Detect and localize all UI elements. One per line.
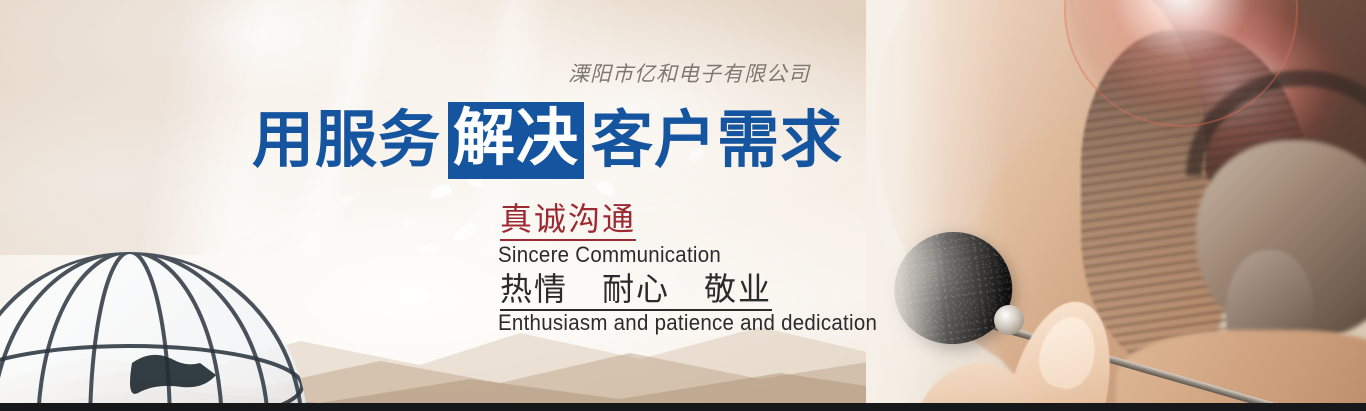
wireframe-globe-icon [0, 245, 390, 411]
slogan-secondary-zh: 热情 耐心 敬业 [500, 273, 772, 311]
call-center-agent-photo [866, 0, 1366, 403]
photo-left-fade [866, 0, 1366, 403]
bottom-strip [0, 403, 1366, 411]
slogan-primary-zh: 真诚沟通 [500, 203, 636, 241]
headline-highlight: 解决 [448, 102, 584, 179]
slogan-secondary-en: Enthusiasm and patience and dedication [498, 310, 877, 336]
slogan-primary-en: Sincere Communication [498, 242, 721, 268]
promo-banner: 溧阳市亿和电子有限公司 用服务 解决 客户需求 真诚沟通 Sincere Com… [0, 0, 1366, 411]
headline: 用服务 解决 客户需求 [252, 102, 843, 179]
company-name: 溧阳市亿和电子有限公司 [568, 58, 810, 88]
microphone-collar [994, 305, 1024, 335]
headline-part-2: 客户需求 [591, 110, 843, 172]
headline-part-1: 用服务 [252, 110, 441, 172]
